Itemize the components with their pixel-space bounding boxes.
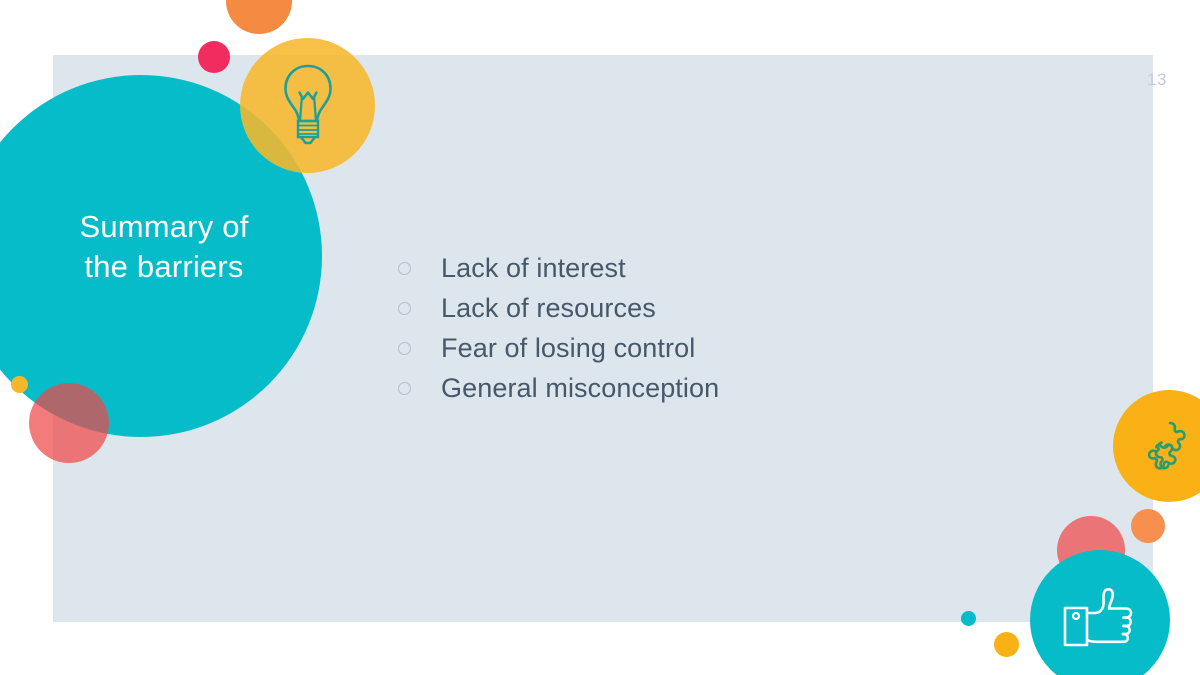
puzzle-icon bbox=[1140, 417, 1198, 475]
teal-dot-bottom bbox=[961, 611, 976, 626]
list-item-label: Lack of resources bbox=[441, 293, 656, 324]
barriers-list: Lack of interest Lack of resources Fear … bbox=[398, 248, 958, 408]
list-item: Lack of resources bbox=[398, 288, 958, 328]
list-item-label: Fear of losing control bbox=[441, 333, 695, 364]
bullet-circle-icon bbox=[398, 302, 411, 315]
list-item-label: General misconception bbox=[441, 373, 719, 404]
bullet-circle-icon bbox=[398, 342, 411, 355]
orange-dot-bottom-right bbox=[1131, 509, 1165, 543]
bullet-circle-icon bbox=[398, 382, 411, 395]
list-item-label: Lack of interest bbox=[441, 253, 626, 284]
lightbulb-icon bbox=[279, 62, 337, 148]
slide-canvas: 13 Summary of the barriers Lack of inter… bbox=[0, 0, 1200, 675]
list-item: General misconception bbox=[398, 368, 958, 408]
pink-circle-top bbox=[198, 41, 230, 73]
orange-circle-top bbox=[226, 0, 292, 34]
list-item: Fear of losing control bbox=[398, 328, 958, 368]
page-title: Summary of the barriers bbox=[24, 207, 304, 287]
page-number: 13 bbox=[1147, 70, 1167, 90]
list-item: Lack of interest bbox=[398, 248, 958, 288]
coral-circle-left bbox=[29, 383, 109, 463]
amber-dot-bottom bbox=[994, 632, 1019, 657]
bullet-circle-icon bbox=[398, 262, 411, 275]
amber-dot-left bbox=[11, 376, 28, 393]
page-title-line-2: the barriers bbox=[24, 247, 304, 287]
page-title-line-1: Summary of bbox=[24, 207, 304, 247]
thumbs-up-icon bbox=[1062, 586, 1140, 648]
